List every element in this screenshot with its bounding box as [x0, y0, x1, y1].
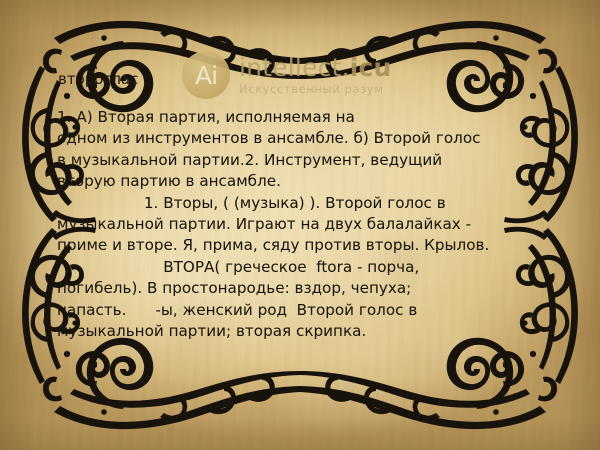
parchment-page: Ai intellect.icu Искусственный разум вто… — [0, 0, 600, 450]
headword: второглас — [58, 70, 138, 88]
definition-line: напасть. -ы, женский род Второй голос в — [57, 300, 551, 321]
definition-line: одном из инструментов в ансамбле. б) Вто… — [57, 128, 551, 149]
definition-line: 1. А) Вторая партия, исполняемая на — [57, 107, 551, 128]
definition-line: в музыкальной партии.2. Инструмент, веду… — [57, 150, 551, 171]
definition-line: музыкальной партии. Играют на двух балал… — [57, 214, 551, 235]
definition-line: ВТОРА( греческое ftora - порча, — [57, 257, 551, 278]
definition-line: приме и вторе. Я, прима, сяду против вто… — [57, 235, 551, 256]
definition-line: музыкальной партии; вторая скрипка. — [57, 321, 551, 342]
definition-body: 1. А) Вторая партия, исполняемая на одно… — [57, 107, 551, 342]
definition-line: 1. Вторы, ( (музыка) ). Второй голос в — [57, 193, 551, 214]
definition-line: вторую партию в ансамбле. — [57, 171, 551, 192]
definition-line: погибель). В простонародье: вздор, чепух… — [57, 278, 551, 299]
